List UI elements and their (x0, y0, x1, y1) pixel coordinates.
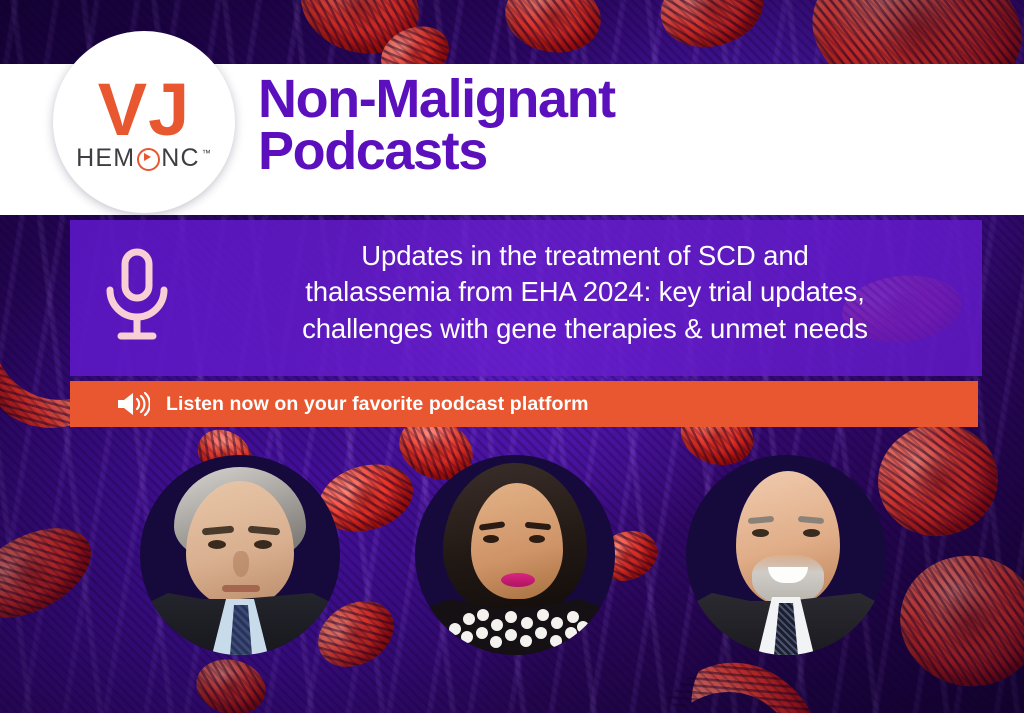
page-title: Non-Malignant Podcasts (258, 74, 958, 178)
listen-now-cta-bar[interactable]: Listen now on your favorite podcast plat… (70, 381, 978, 427)
lips (501, 573, 535, 587)
nose (233, 551, 249, 577)
speaker-3-photo (686, 455, 886, 655)
episode-description: Updates in the treatment of SCD and thal… (200, 238, 970, 347)
vj-hemonc-logo[interactable]: VJ HEM NC ™ (53, 31, 235, 213)
microphone-icon (102, 248, 172, 344)
logo-hemonc-part-b: NC (161, 146, 200, 171)
speaker-portrait-3 (686, 455, 886, 655)
logo-hemonc-part-a: HEM (76, 146, 135, 171)
description-line-1: Updates in the treatment of SCD and (200, 238, 970, 274)
eye-left (752, 529, 769, 537)
podcast-promo-graphic: Non-Malignant Podcasts VJ HEM NC ™ Updat… (0, 0, 1024, 713)
speaker-2-photo (415, 455, 615, 655)
title-line-2: Podcasts (258, 126, 958, 178)
speaker-volume-icon (116, 391, 150, 417)
mouth (222, 585, 260, 592)
logo-hemonc-text: HEM NC ™ (76, 146, 212, 171)
description-line-3: challenges with gene therapies & unmet n… (200, 311, 970, 347)
speaker-portrait-2 (415, 455, 615, 655)
eye-left (208, 540, 226, 549)
play-circle-icon (137, 148, 160, 171)
speaker-1-photo (140, 455, 340, 655)
description-line-2: thalassemia from EHA 2024: key trial upd… (200, 274, 970, 310)
title-line-1: Non-Malignant (258, 69, 615, 129)
disc-collar-necklace (445, 605, 585, 649)
eye-right (803, 529, 820, 537)
eye-right (254, 540, 272, 549)
logo-vj-text: VJ (98, 77, 191, 144)
speaker-portrait-1 (140, 455, 340, 655)
trademark-symbol: ™ (202, 148, 212, 158)
eye-left (483, 535, 499, 543)
eye-right (529, 535, 545, 543)
cta-label: Listen now on your favorite podcast plat… (166, 393, 589, 416)
